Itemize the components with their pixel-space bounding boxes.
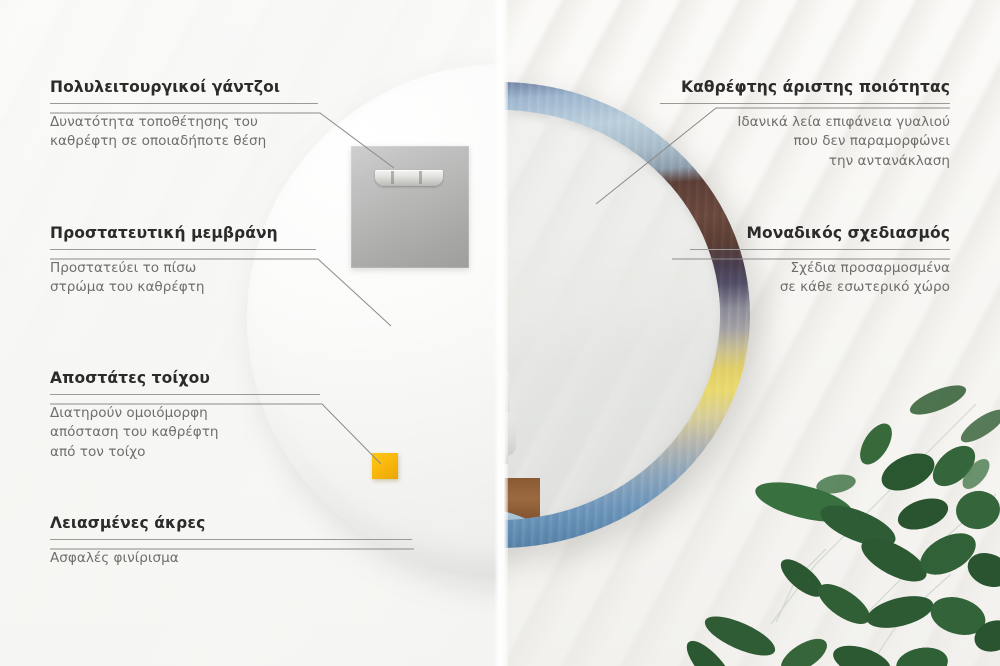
callout-description: Προστατεύει το πίσω στρώμα του καθρέφτη: [50, 259, 316, 298]
callout-title: Αποστάτες τοίχου: [50, 369, 320, 387]
callout-title: Πολυλειτουργικοί γάντζοι: [50, 78, 318, 96]
product-feature-infographic: Πολυλειτουργικοί γάντζοι Δυνατότητα τοπο…: [0, 0, 1000, 666]
callout-title: Μοναδικός σχεδιασμός: [690, 224, 950, 242]
callout-unique-design: Μοναδικός σχεδιασμός Σχέδια προσαρμοσμέν…: [690, 224, 950, 298]
callout-rule: [660, 103, 950, 104]
callout-description: Ασφαλές φινίρισμα: [50, 549, 412, 568]
callout-top-quality-mirror: Καθρέφτης άριστης ποιότητας Ιδανικά λεία…: [660, 78, 950, 171]
callout-description: Δυνατότητα τοποθέτησης του καθρέφτη σε ο…: [50, 113, 318, 152]
callout-smoothed-edges: Λειασμένες άκρες Ασφαλές φινίρισμα: [50, 514, 412, 568]
callout-rule: [50, 539, 412, 540]
callout-title: Προστατευτική μεμβράνη: [50, 224, 316, 242]
callout-protective-membrane: Προστατευτική μεμβράνη Προστατεύει το πί…: [50, 224, 316, 298]
callout-title: Καθρέφτης άριστης ποιότητας: [660, 78, 950, 96]
callout-description: Διατηρούν ομοιόμορφη απόσταση του καθρέφ…: [50, 404, 320, 462]
panel-divider: [494, 0, 508, 666]
callout-rule: [50, 249, 316, 250]
foliage-decoration: [676, 374, 1000, 666]
callout-description: Σχέδια προσαρμοσμένα σε κάθε εσωτερικό χ…: [690, 259, 950, 298]
callout-rule: [50, 394, 320, 395]
wall-spacer-block: [372, 453, 398, 479]
callout-title: Λειασμένες άκρες: [50, 514, 412, 532]
callout-rule: [690, 249, 950, 250]
hook-icon: [375, 170, 443, 186]
callout-rule: [50, 103, 318, 104]
callout-wall-spacers: Αποστάτες τοίχου Διατηρούν ομοιόμορφη απ…: [50, 369, 320, 462]
callout-description: Ιδανικά λεία επιφάνεια γυαλιού που δεν π…: [660, 113, 950, 171]
hanging-bracket-plate: [351, 146, 469, 268]
callout-multifunction-hooks: Πολυλειτουργικοί γάντζοι Δυνατότητα τοπο…: [50, 78, 318, 152]
